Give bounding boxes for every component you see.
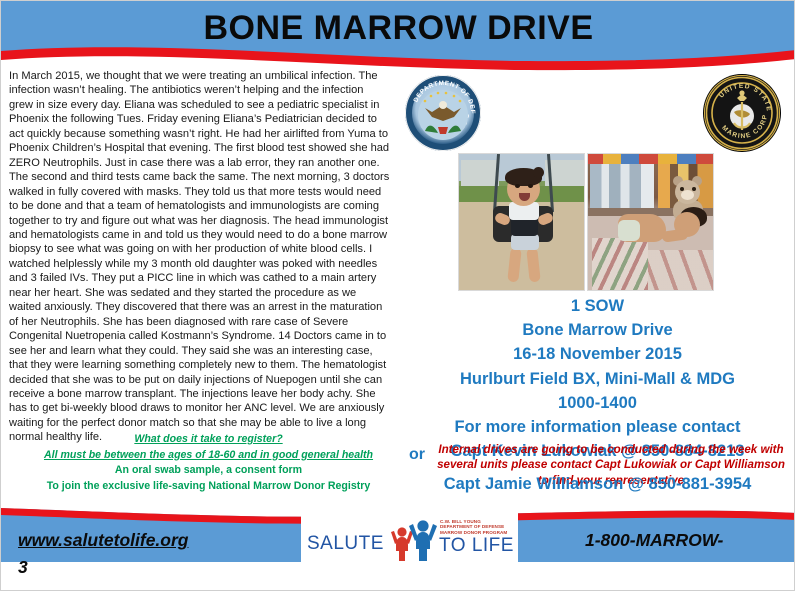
- baby-on-swing-photo: [458, 153, 585, 291]
- event-line-contact-heading: For more information please contact: [401, 415, 794, 439]
- photo-window-left: [590, 164, 654, 208]
- event-line-hours: 1000-1400: [401, 391, 794, 415]
- photo-teddy-eye-left: [680, 187, 684, 191]
- event-line-dates: 16-18 November 2015: [401, 342, 794, 366]
- register-requirement-swab: An oral swab sample, a consent form: [31, 463, 386, 479]
- register-question: What does it take to register?: [31, 432, 386, 448]
- logo-word-to-life: TO LIFE: [439, 535, 514, 557]
- salutetolife-website-link[interactable]: www.salutetolife.org: [18, 530, 188, 551]
- dod-seal-ring-text: DEPARTMENT OF DEFENSE UNITED STATES OF A…: [405, 75, 481, 151]
- logo-word-salute: SALUTE: [307, 533, 384, 555]
- baby-sleeping-photo: [587, 153, 714, 291]
- svg-text:DEPARTMENT OF DEFENSE: DEPARTMENT OF DEFENSE: [405, 75, 476, 114]
- department-of-defense-seal-icon: DEPARTMENT OF DEFENSE UNITED STATES OF A…: [405, 75, 481, 151]
- event-details-panel: 1 SOW Bone Marrow Drive 16-18 November 2…: [401, 294, 794, 463]
- event-line-drive-name: Bone Marrow Drive: [401, 318, 794, 342]
- story-panel: In March 2015, we thought that we were t…: [9, 69, 390, 445]
- page-title: BONE MARROW DRIVE: [1, 9, 795, 48]
- photo-baby-diaper: [511, 234, 539, 250]
- photo-baby-eye-left: [515, 184, 520, 188]
- photo-teddy-muzzle: [681, 190, 694, 200]
- svg-text:UNITED STATES: UNITED STATES: [704, 75, 772, 112]
- marine-corps-seal-icon: UNITED STATES MARINE CORPS: [704, 75, 780, 151]
- photo-sleeping-baby-diaper: [618, 220, 640, 241]
- registration-requirements-panel: What does it take to register? All must …: [31, 432, 386, 494]
- salute-to-life-logo: SALUTE C.W. BILL YOUNG DEPARTMENT OF DEF…: [301, 513, 518, 566]
- phone-number-overflow-digit: 3: [18, 557, 28, 578]
- photo-baby-eye-right: [528, 184, 533, 188]
- register-requirement-registry: To join the exclusive life-saving Nation…: [31, 479, 386, 495]
- register-age-requirement: All must be between the ages of 18-60 an…: [31, 448, 386, 464]
- event-line-locations: Hurlburt Field BX, Mini-Mall & MDG: [401, 367, 794, 391]
- contact-williamson: Capt Jamie Williamson @ 850-881-3954: [401, 472, 794, 496]
- marrow-phone-number: 1-800-MARROW-: [585, 530, 723, 551]
- usmc-seal-ring-text: UNITED STATES MARINE CORPS: [704, 75, 780, 151]
- story-paragraph: In March 2015, we thought that we were t…: [9, 69, 390, 445]
- or-separator-label: or: [409, 446, 425, 464]
- photo-blanket-pattern-2: [648, 250, 714, 291]
- photo-teddy-eye-right: [692, 187, 696, 191]
- top-banner: BONE MARROW DRIVE: [1, 1, 795, 73]
- svg-text:UNITED STATES OF AMERICA: UNITED STATES OF AMERICA: [405, 75, 471, 141]
- logo-subtitle: C.W. BILL YOUNG DEPARTMENT OF DEFENSE MA…: [440, 519, 507, 535]
- bone-marrow-drive-flyer: BONE MARROW DRIVE In March 2015, we thou…: [0, 0, 795, 591]
- event-line-unit: 1 SOW: [401, 294, 794, 318]
- photo-baby-hair-bun: [533, 167, 544, 178]
- photo-building-left: [461, 160, 499, 186]
- svg-text:MARINE CORPS: MARINE CORPS: [704, 75, 769, 140]
- logo-figure-blue-icon: [409, 520, 437, 561]
- photo-blanket-pattern-1: [592, 238, 648, 290]
- photo-curtain: [588, 154, 714, 164]
